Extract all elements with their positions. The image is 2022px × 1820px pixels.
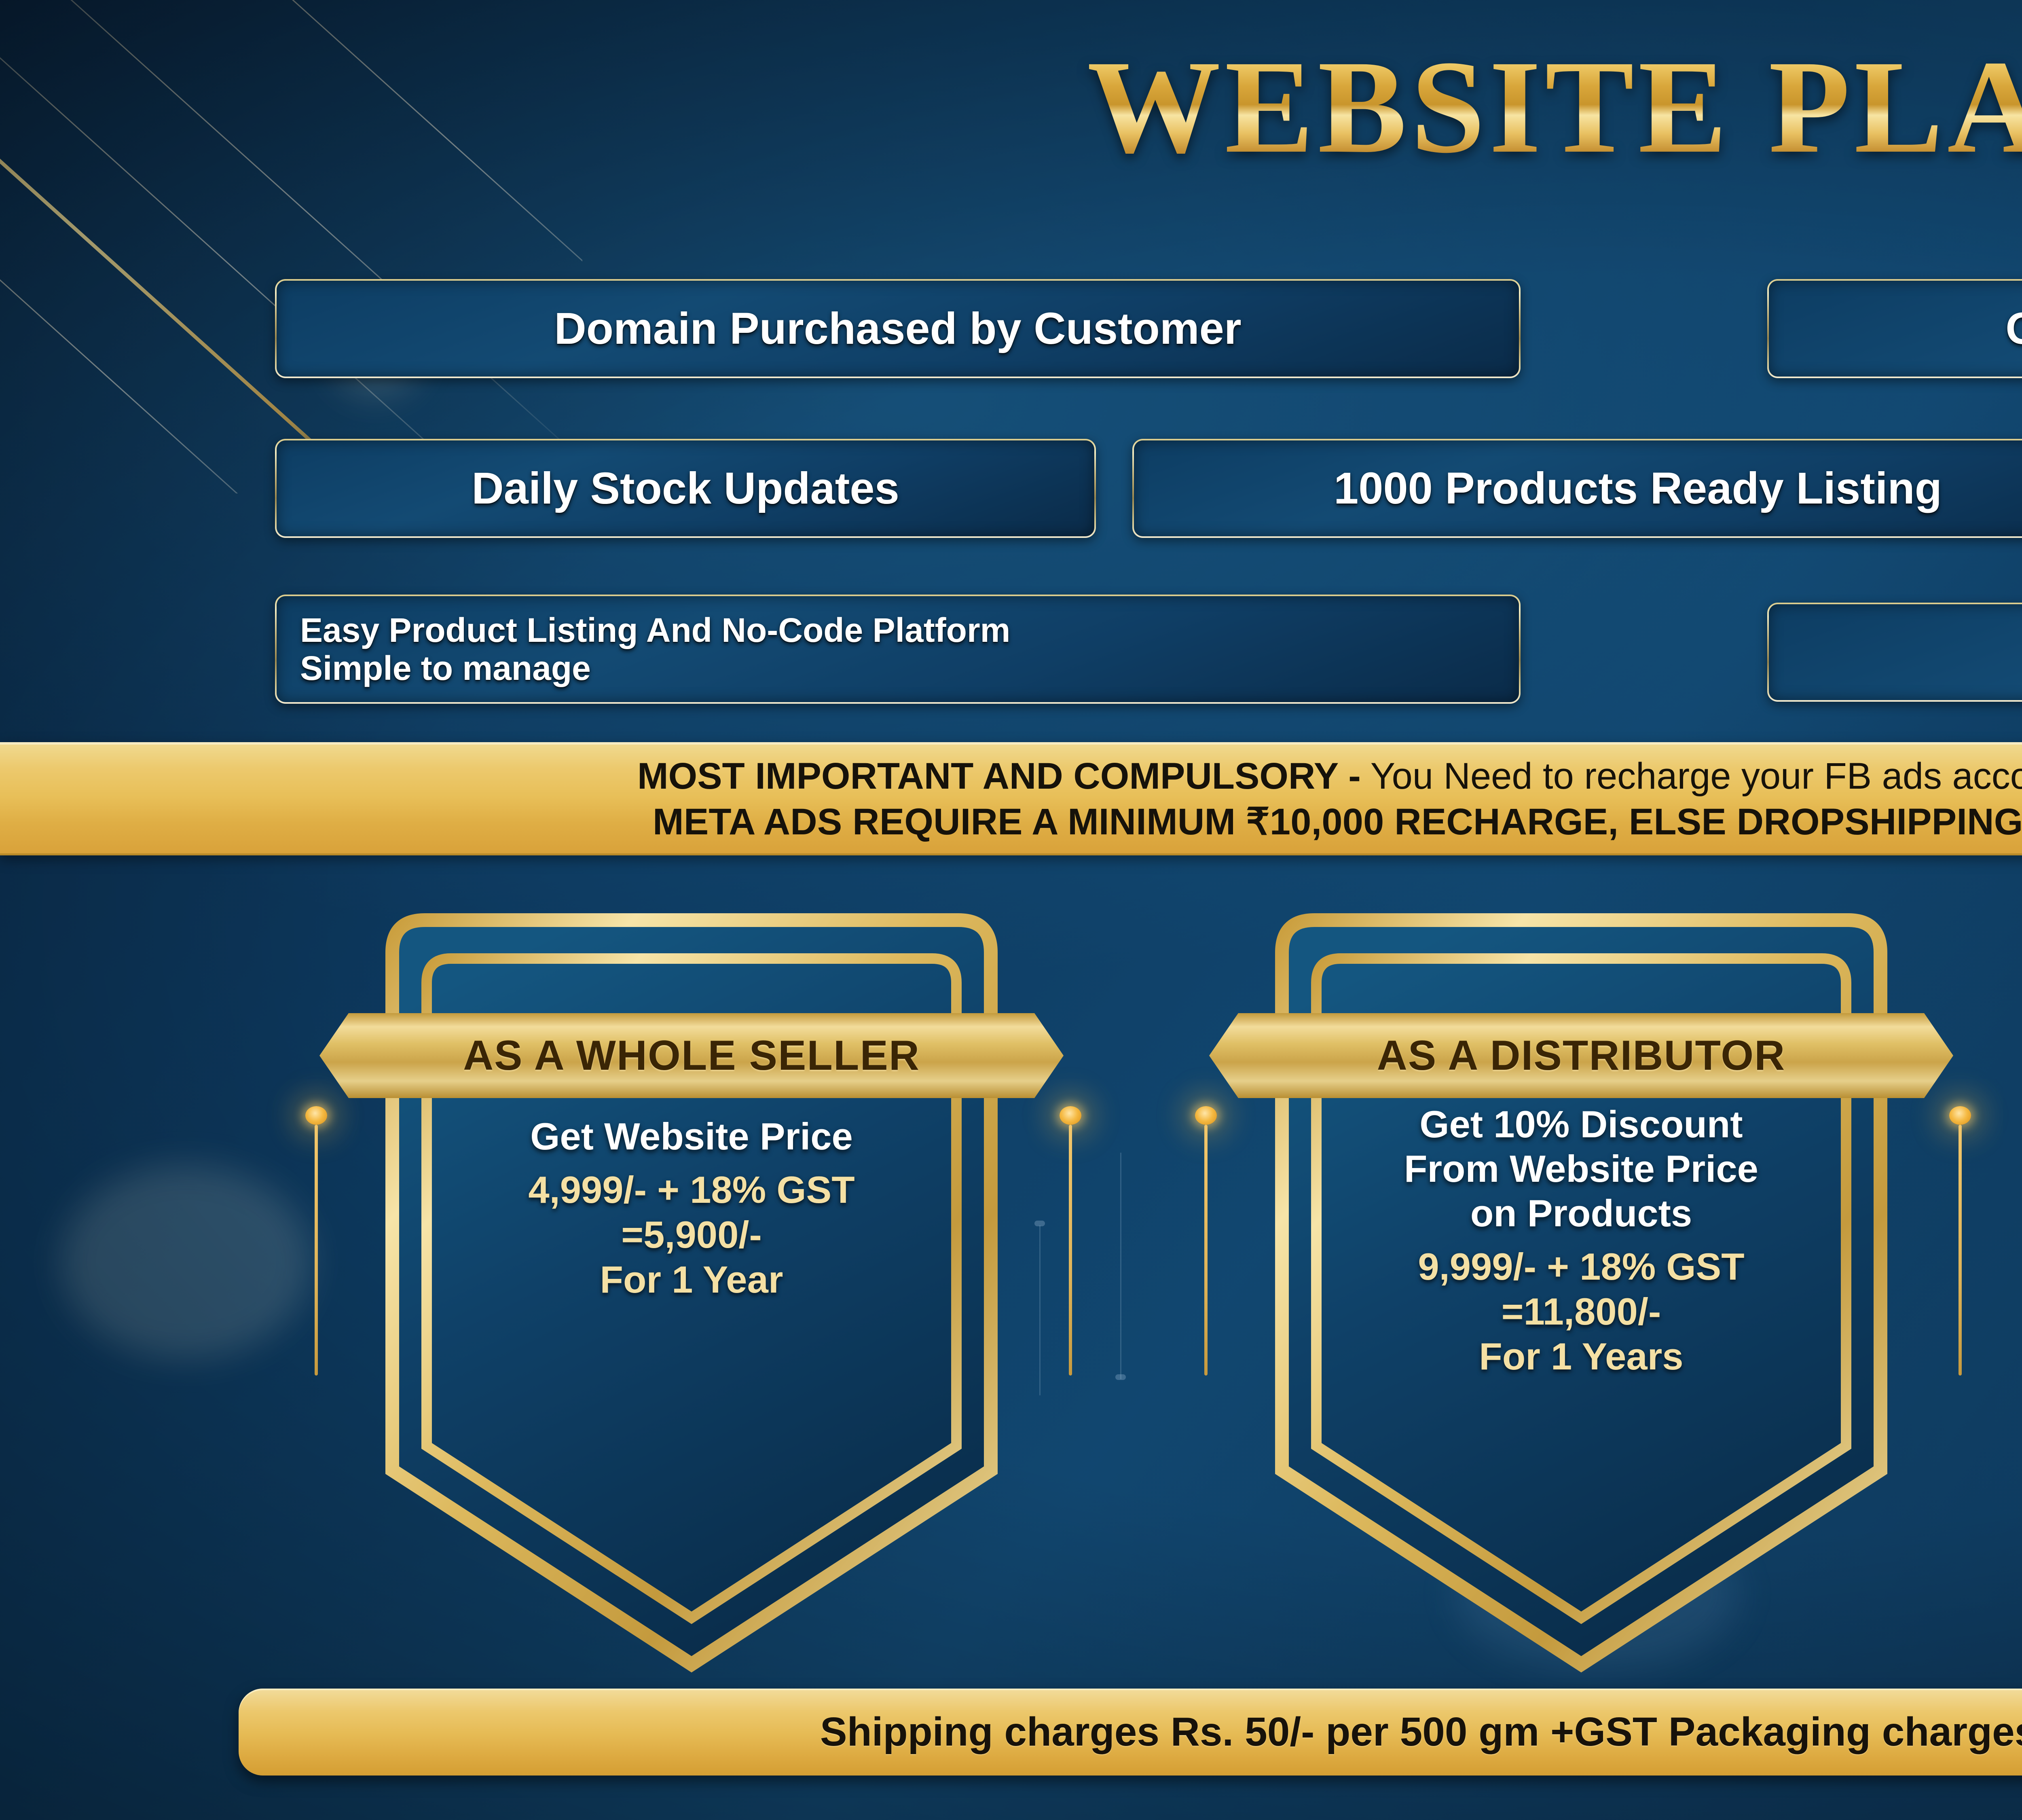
pin-dot-icon xyxy=(305,1106,327,1125)
feature-inner: Domain Purchased by Customer xyxy=(277,281,1519,377)
pin-dot-icon xyxy=(1060,1106,1081,1125)
feature-label: 1000 Products Ready Listing xyxy=(1334,463,1942,514)
compulsory-notice-banner: MOST IMPORTANT AND COMPULSORY - You Need… xyxy=(0,742,2022,855)
feature-box-order-management-panel[interactable]: Order Management Panel No Monthly Hostin… xyxy=(1767,279,2022,378)
pin-left xyxy=(1195,1106,1217,1376)
feature-box-products-ready-listing[interactable]: 1000 Products Ready Listing xyxy=(1132,439,2022,538)
feature-label: Easy Product Listing And No-Code Platfor… xyxy=(300,611,1010,687)
plan-ribbon-label: AS A WHOLE SELLER xyxy=(463,1032,920,1080)
plan-price: 4,999/- + 18% GST =5,900/- For 1 Year xyxy=(404,1168,979,1302)
plan-ribbon-whole-seller: AS A WHOLE SELLER xyxy=(319,1013,1064,1098)
pin-dot-icon xyxy=(1195,1106,1217,1125)
plan-ribbon-label: AS A DISTRIBUTOR xyxy=(1377,1032,1785,1080)
feature-box-google-ads-meta-pixel[interactable]: Google Ads & Meta Pixel Integration xyxy=(1767,603,2022,702)
pin-stem xyxy=(1069,1125,1072,1376)
plan-price: 9,999/- + 18% GST =11,800/- For 1 Years xyxy=(1294,1244,1868,1379)
feature-box-domain-purchased[interactable]: Domain Purchased by Customer xyxy=(275,279,1521,378)
feature-inner: Order Management Panel No Monthly Hostin… xyxy=(1769,281,2022,377)
feature-inner: 1000 Products Ready Listing xyxy=(1134,440,2022,536)
plan-heading: Get Website Price xyxy=(404,1114,979,1159)
page-title: WEBSITE PLAN xyxy=(0,40,2022,174)
pin-stem xyxy=(315,1125,318,1376)
plan-card-whole-seller[interactable]: AS A WHOLE SELLER Get Website Price 4,99… xyxy=(348,896,1035,1697)
pin-stem xyxy=(1204,1125,1208,1376)
notice-line-1-bold: MOST IMPORTANT AND COMPULSORY - xyxy=(637,756,1361,797)
pin-right xyxy=(1060,1106,1081,1376)
plan-content: Get Website Price 4,999/- + 18% GST =5,9… xyxy=(404,1114,979,1302)
notice-line-1-rest: You Need to recharge your FB ads account… xyxy=(1361,756,2022,797)
pin-left xyxy=(305,1106,327,1376)
feature-label: Daily Stock Updates xyxy=(472,463,899,514)
feature-inner: Daily Stock Updates xyxy=(277,440,1094,536)
plan-ribbon-distributor: AS A DISTRIBUTOR xyxy=(1209,1013,1953,1098)
shipping-charges-label: Shipping charges Rs. 50/- per 500 gm +GS… xyxy=(820,1709,2022,1755)
feature-label: Domain Purchased by Customer xyxy=(554,303,1241,354)
plan-content: Get 10% Discount From Website Price on P… xyxy=(1294,1102,1868,1379)
notice-line-2: META ADS REQUIRE A MINIMUM ₹10,000 RECHA… xyxy=(653,799,2022,844)
feature-box-easy-product-listing[interactable]: Easy Product Listing And No-Code Platfor… xyxy=(275,595,1521,704)
pin-right xyxy=(1949,1106,1971,1376)
notice-line-1: MOST IMPORTANT AND COMPULSORY - You Need… xyxy=(637,753,2022,799)
feature-inner: Google Ads & Meta Pixel Integration xyxy=(1769,604,2022,700)
plan-card-distributor[interactable]: AS A DISTRIBUTOR Get 10% Discount From W… xyxy=(1237,896,1925,1697)
shipping-charges-bar: Shipping charges Rs. 50/- per 500 gm +GS… xyxy=(239,1689,2022,1776)
feature-main: Order Management Panel xyxy=(1769,281,2022,377)
feature-label: Order Management Panel xyxy=(2005,303,2022,354)
feature-inner: Easy Product Listing And No-Code Platfor… xyxy=(277,596,1519,702)
plan-heading: Get 10% Discount From Website Price on P… xyxy=(1294,1102,1868,1236)
pin-dot-icon xyxy=(1949,1106,1971,1125)
feature-box-daily-stock-updates[interactable]: Daily Stock Updates xyxy=(275,439,1096,538)
feature-split: Order Management Panel No Monthly Hostin… xyxy=(1769,281,2022,377)
pin-stem xyxy=(1959,1125,1962,1376)
